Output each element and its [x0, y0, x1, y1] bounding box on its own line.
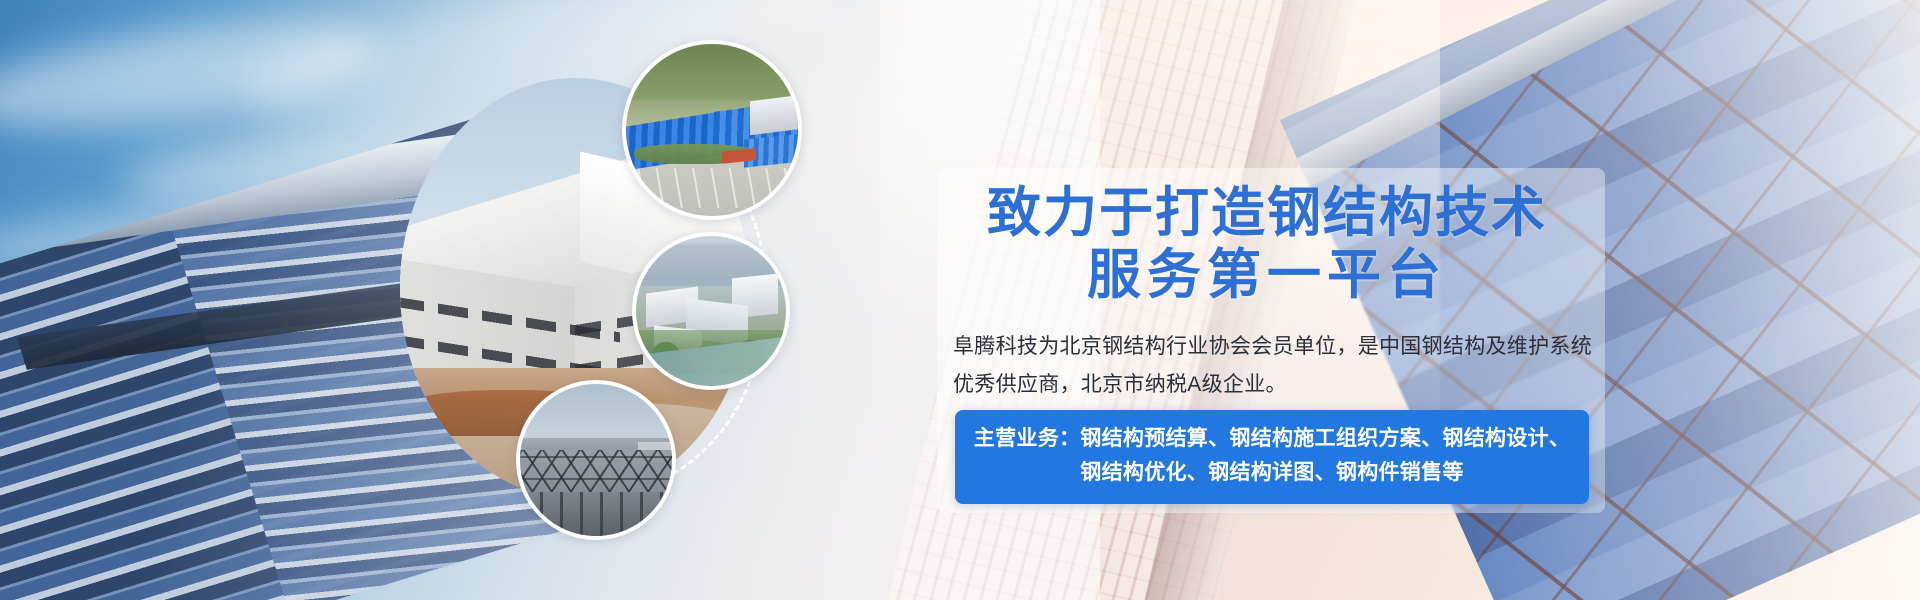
- company-description: 阜腾科技为北京钢结构行业协会会员单位，是中国钢结构及维护系统优秀供应商，北京市纳…: [953, 328, 1593, 404]
- image-collage: [400, 40, 820, 560]
- headline-line-2: 服务第一平台: [937, 244, 1597, 306]
- hero-banner: 致力于打造钢结构技术 服务第一平台 阜腾科技为北京钢结构行业协会会员单位，是中国…: [0, 0, 1920, 600]
- business-scope-box: 主营业务：钢结构预结算、钢结构施工组织方案、钢结构设计、钢结构优化、钢结构详图、…: [955, 410, 1589, 504]
- photo-truss-posts: [520, 492, 672, 536]
- collage-image-blue-roof-factory: [622, 40, 802, 220]
- collage-image-steel-truss: [516, 380, 676, 540]
- page-title: 致力于打造钢结构技术 服务第一平台: [937, 182, 1597, 306]
- photo-white-building: [750, 95, 802, 135]
- collage-image-campus-aerial: [632, 232, 790, 390]
- photo-lot-markings: [626, 168, 798, 208]
- headline-line-1: 致力于打造钢结构技术: [937, 182, 1597, 244]
- photo-treeline: [626, 44, 798, 100]
